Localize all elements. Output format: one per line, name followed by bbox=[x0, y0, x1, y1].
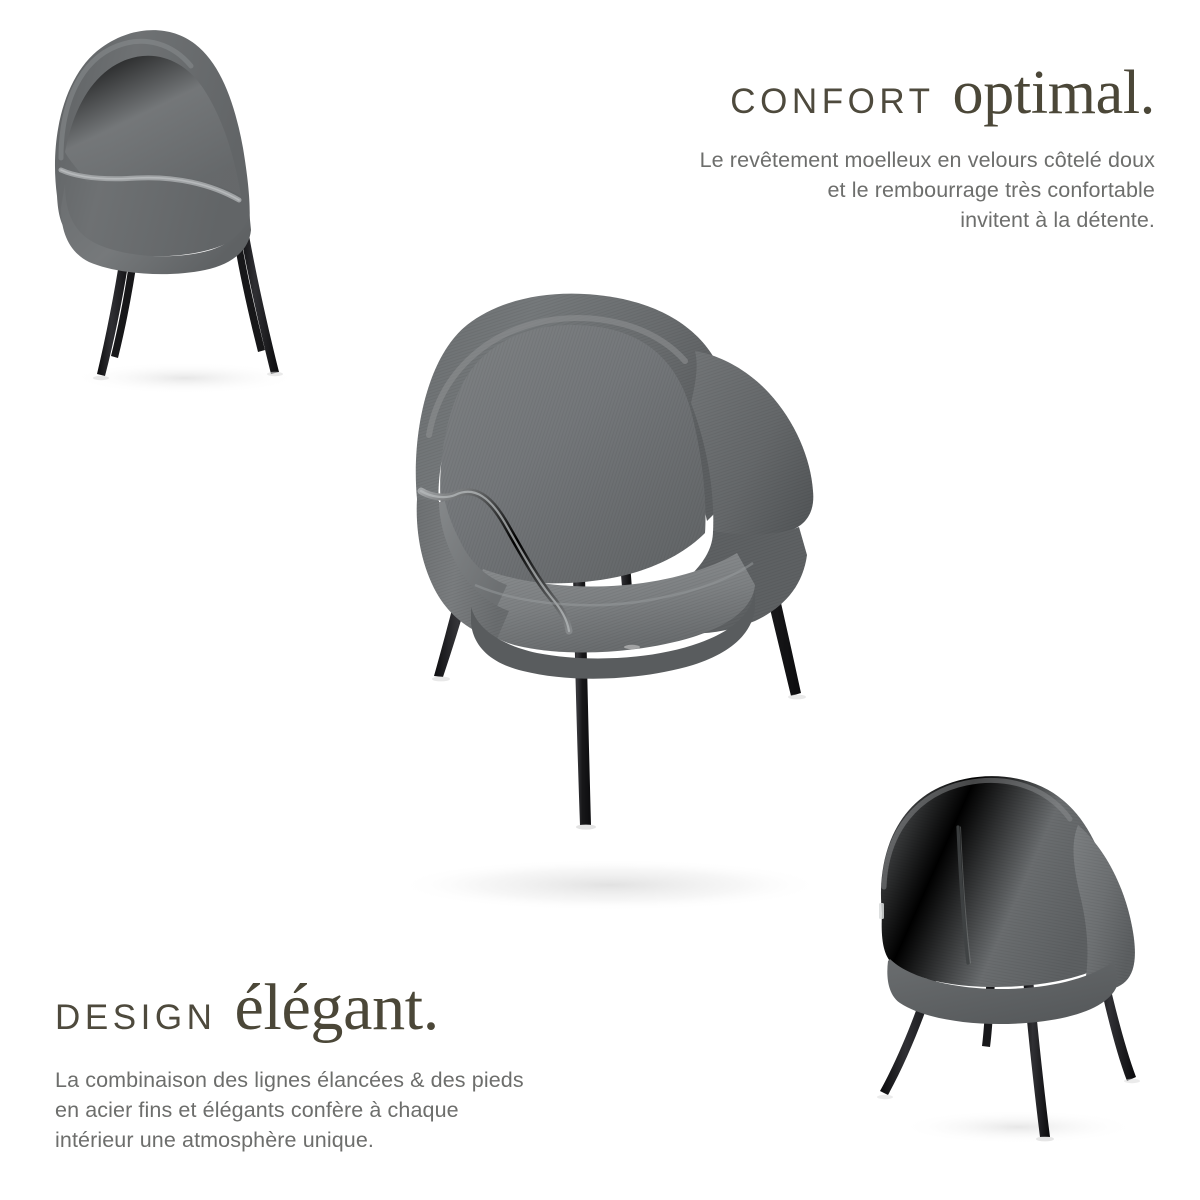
confort-eyebrow: CONFORT bbox=[730, 84, 934, 119]
confort-headline: CONFORT optimal. bbox=[700, 62, 1155, 124]
leg-tip-shadow bbox=[624, 645, 640, 649]
design-body: La combinaison des lignes élancées & des… bbox=[55, 1065, 524, 1155]
leg-tip-shadow bbox=[432, 677, 450, 682]
confort-body-line: invitent à la détente. bbox=[700, 205, 1155, 235]
fabric-tag bbox=[879, 903, 884, 919]
leg-tip-shadow bbox=[1124, 1079, 1140, 1083]
confort-text-block: CONFORT optimal. Le revêtement moelleux … bbox=[700, 62, 1155, 235]
design-eyebrow: DESIGN bbox=[55, 1000, 217, 1035]
confort-body-line: Le revêtement moelleux en velours côtelé… bbox=[700, 145, 1155, 175]
design-body-line: intérieur une atmosphère unique. bbox=[55, 1125, 524, 1155]
floor-shadow bbox=[898, 1110, 1138, 1144]
leg-tip-shadow bbox=[877, 1095, 893, 1099]
leg-tip-shadow bbox=[1036, 1137, 1054, 1142]
confort-accent-word: optimal. bbox=[953, 62, 1155, 124]
confort-body: Le revêtement moelleux en velours côtelé… bbox=[700, 145, 1155, 235]
product-image-armchair-side bbox=[35, 18, 335, 403]
leg-tip-shadow bbox=[576, 824, 596, 829]
design-headline: DESIGN élégant. bbox=[55, 975, 524, 1041]
product-image-armchair-main bbox=[355, 285, 865, 915]
leg-tip-shadow bbox=[267, 372, 283, 376]
poster-canvas: CONFORT optimal. Le revêtement moelleux … bbox=[0, 0, 1200, 1200]
leg-tip-shadow bbox=[788, 695, 806, 700]
confort-body-line: et le rembourrage très confortable bbox=[700, 175, 1155, 205]
design-text-block: DESIGN élégant. La combinaison des ligne… bbox=[55, 975, 524, 1155]
design-accent-word: élégant. bbox=[235, 975, 439, 1041]
design-body-line: en acier fins et élégants confère à chaq… bbox=[55, 1095, 524, 1125]
design-body-line: La combinaison des lignes élancées & des… bbox=[55, 1065, 524, 1095]
leg-tip-shadow bbox=[93, 376, 109, 380]
product-image-armchair-rear bbox=[868, 765, 1173, 1155]
floor-shadow bbox=[395, 859, 825, 911]
